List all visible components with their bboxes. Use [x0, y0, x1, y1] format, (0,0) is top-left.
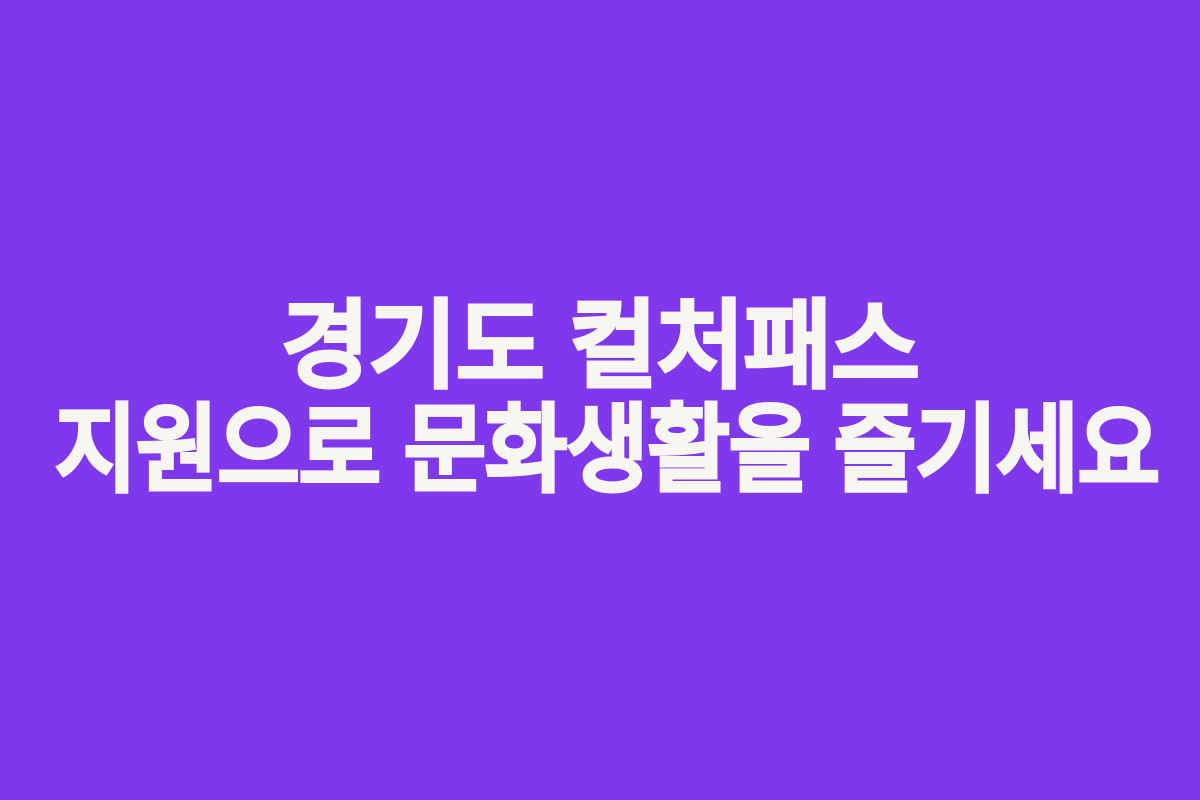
promo-banner: 경기도 컬처패스 지원으로 문화생활을 즐기세요 [0, 0, 1200, 800]
headline-block: 경기도 컬처패스 지원으로 문화생활을 즐기세요 [0, 295, 1200, 503]
headline-line-2: 지원으로 문화생활을 즐기세요 [55, 399, 1145, 503]
headline-line-1: 경기도 컬처패스 [14, 295, 1186, 399]
